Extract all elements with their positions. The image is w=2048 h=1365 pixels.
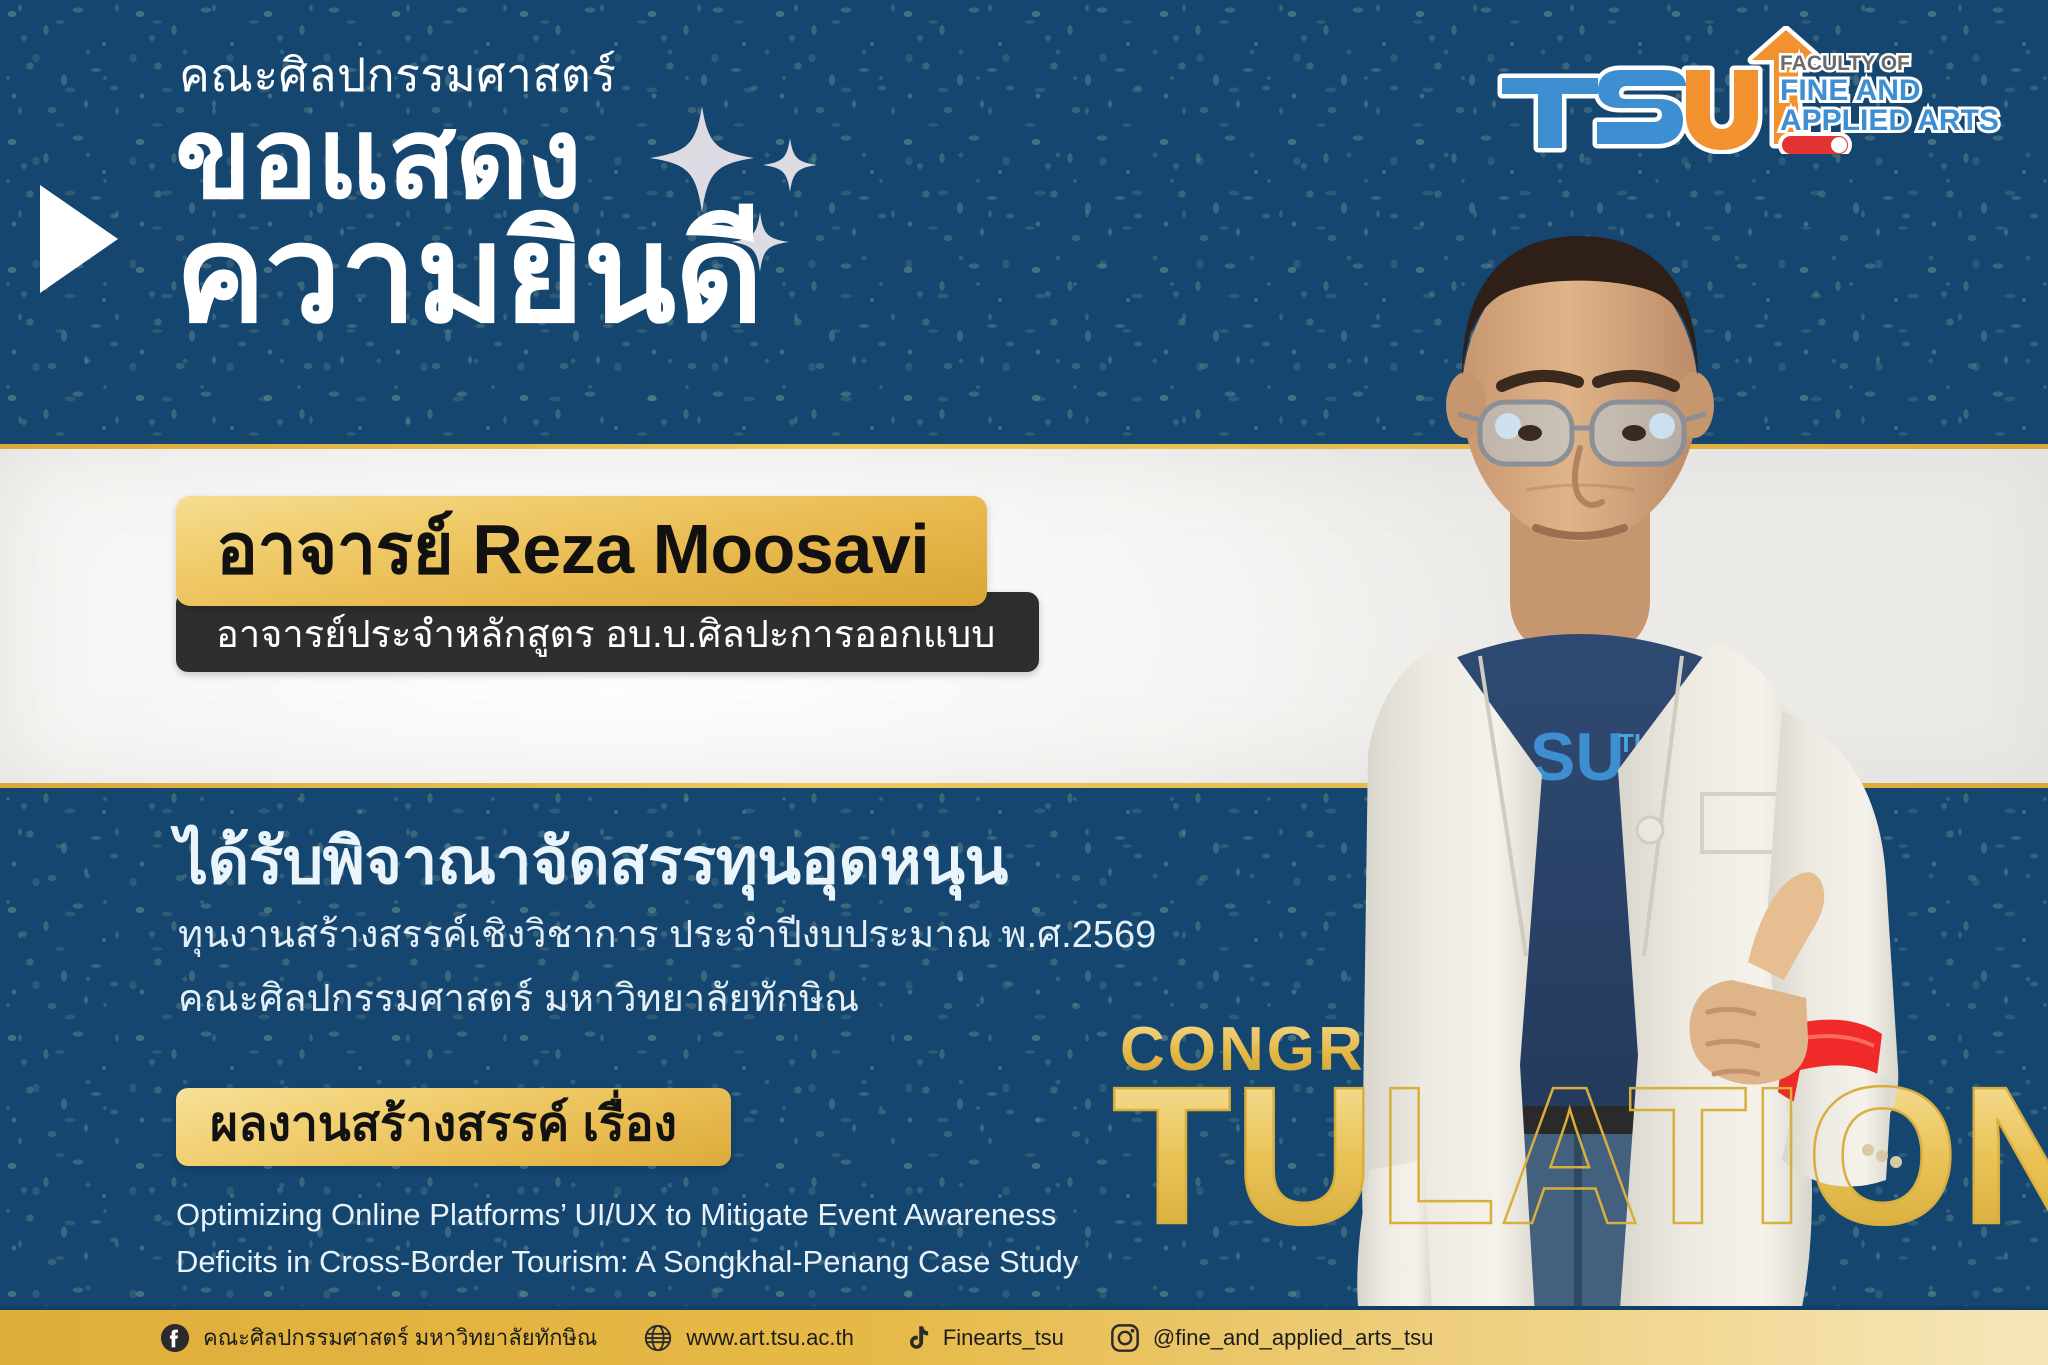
footer-label-facebook: คณะศิลปกรรมศาสตร์ มหาวิทยาลัยทักษิณ (203, 1320, 597, 1355)
award-subline-1: ทุนงานสร้างสรรค์เชิงวิชาการ ประจำปีงบประ… (178, 913, 1156, 959)
faculty-line: คณะศิลปกรรมศาสตร์ (179, 52, 762, 98)
honoree-name-banner: อาจารย์ Reza Moosavi อาจารย์ประจำหลักสูต… (176, 496, 1039, 672)
congratulations-poster: คณะศิลปกรรมศาสตร์ ขอแสดง ความยินดี FACUL… (0, 0, 2048, 1365)
play-triangle-icon (40, 185, 118, 293)
footer-item-tiktok[interactable]: Finearts_tsu (900, 1323, 1064, 1353)
footer-item-website[interactable]: www.art.tsu.ac.th (643, 1323, 854, 1353)
facebook-icon (160, 1323, 190, 1353)
logo-line-1: FINE AND (1780, 74, 1921, 107)
logo-faculty-of: FACULTY OF (1780, 52, 1910, 75)
globe-icon (643, 1323, 673, 1353)
award-subline-2: คณะศิลปกรรมศาสตร์ มหาวิทยาลัยทักษิณ (178, 977, 1156, 1023)
honoree-name: อาจารย์ Reza Moosavi (216, 512, 929, 586)
footer-label-website: www.art.tsu.ac.th (686, 1325, 854, 1351)
work-title-pill: ผลงานสร้างสรรค์ เรื่อง (176, 1088, 731, 1166)
instagram-icon (1110, 1323, 1140, 1353)
tiktok-icon (900, 1323, 930, 1353)
footer-bar: คณะศิลปกรรมศาสตร์ มหาวิทยาลัยทักษิณ www.… (0, 1310, 2048, 1365)
honoree-portrait: SU TH UN (1330, 190, 2048, 1365)
footer-contact-list: คณะศิลปกรรมศาสตร์ มหาวิทยาลัยทักษิณ www.… (160, 1320, 1433, 1355)
honoree-name-plate: อาจารย์ Reza Moosavi (176, 496, 987, 606)
paper-title: Optimizing Online Platforms’ UI/UX to Mi… (176, 1192, 1078, 1285)
tsu-faculty-logo: FACULTY OF FINE AND APPLIED ARTS (1490, 26, 2030, 154)
logo-toggle-icon (1778, 132, 1852, 154)
footer-item-instagram[interactable]: @fine_and_applied_arts_tsu (1110, 1323, 1433, 1353)
paper-title-line-2: Deficits in Cross-Border Tourism: A Song… (176, 1239, 1078, 1286)
paper-title-line-1: Optimizing Online Platforms’ UI/UX to Mi… (176, 1192, 1078, 1239)
footer-label-tiktok: Finearts_tsu (943, 1325, 1064, 1351)
honoree-position: อาจารย์ประจำหลักสูตร อบ.บ.ศิลปะการออกแบบ (216, 616, 995, 656)
footer-label-instagram: @fine_and_applied_arts_tsu (1153, 1325, 1433, 1351)
headline-line-2: ความยินดี (175, 208, 762, 341)
shirt-logo-mark: SU (1530, 719, 1624, 795)
footer-item-facebook[interactable]: คณะศิลปกรรมศาสตร์ มหาวิทยาลัยทักษิณ (160, 1320, 597, 1355)
header-text-block: คณะศิลปกรรมศาสตร์ ขอแสดง ความยินดี (175, 52, 762, 341)
award-text-block: ได้รับพิจาณาจัดสรรทุนอุดหนุน ทุนงานสร้าง… (176, 828, 1156, 1022)
award-heading: ได้รับพิจาณาจัดสรรทุนอุดหนุน (176, 828, 1156, 895)
work-pill-label: ผลงานสร้างสรรค์ เรื่อง (210, 1100, 677, 1150)
